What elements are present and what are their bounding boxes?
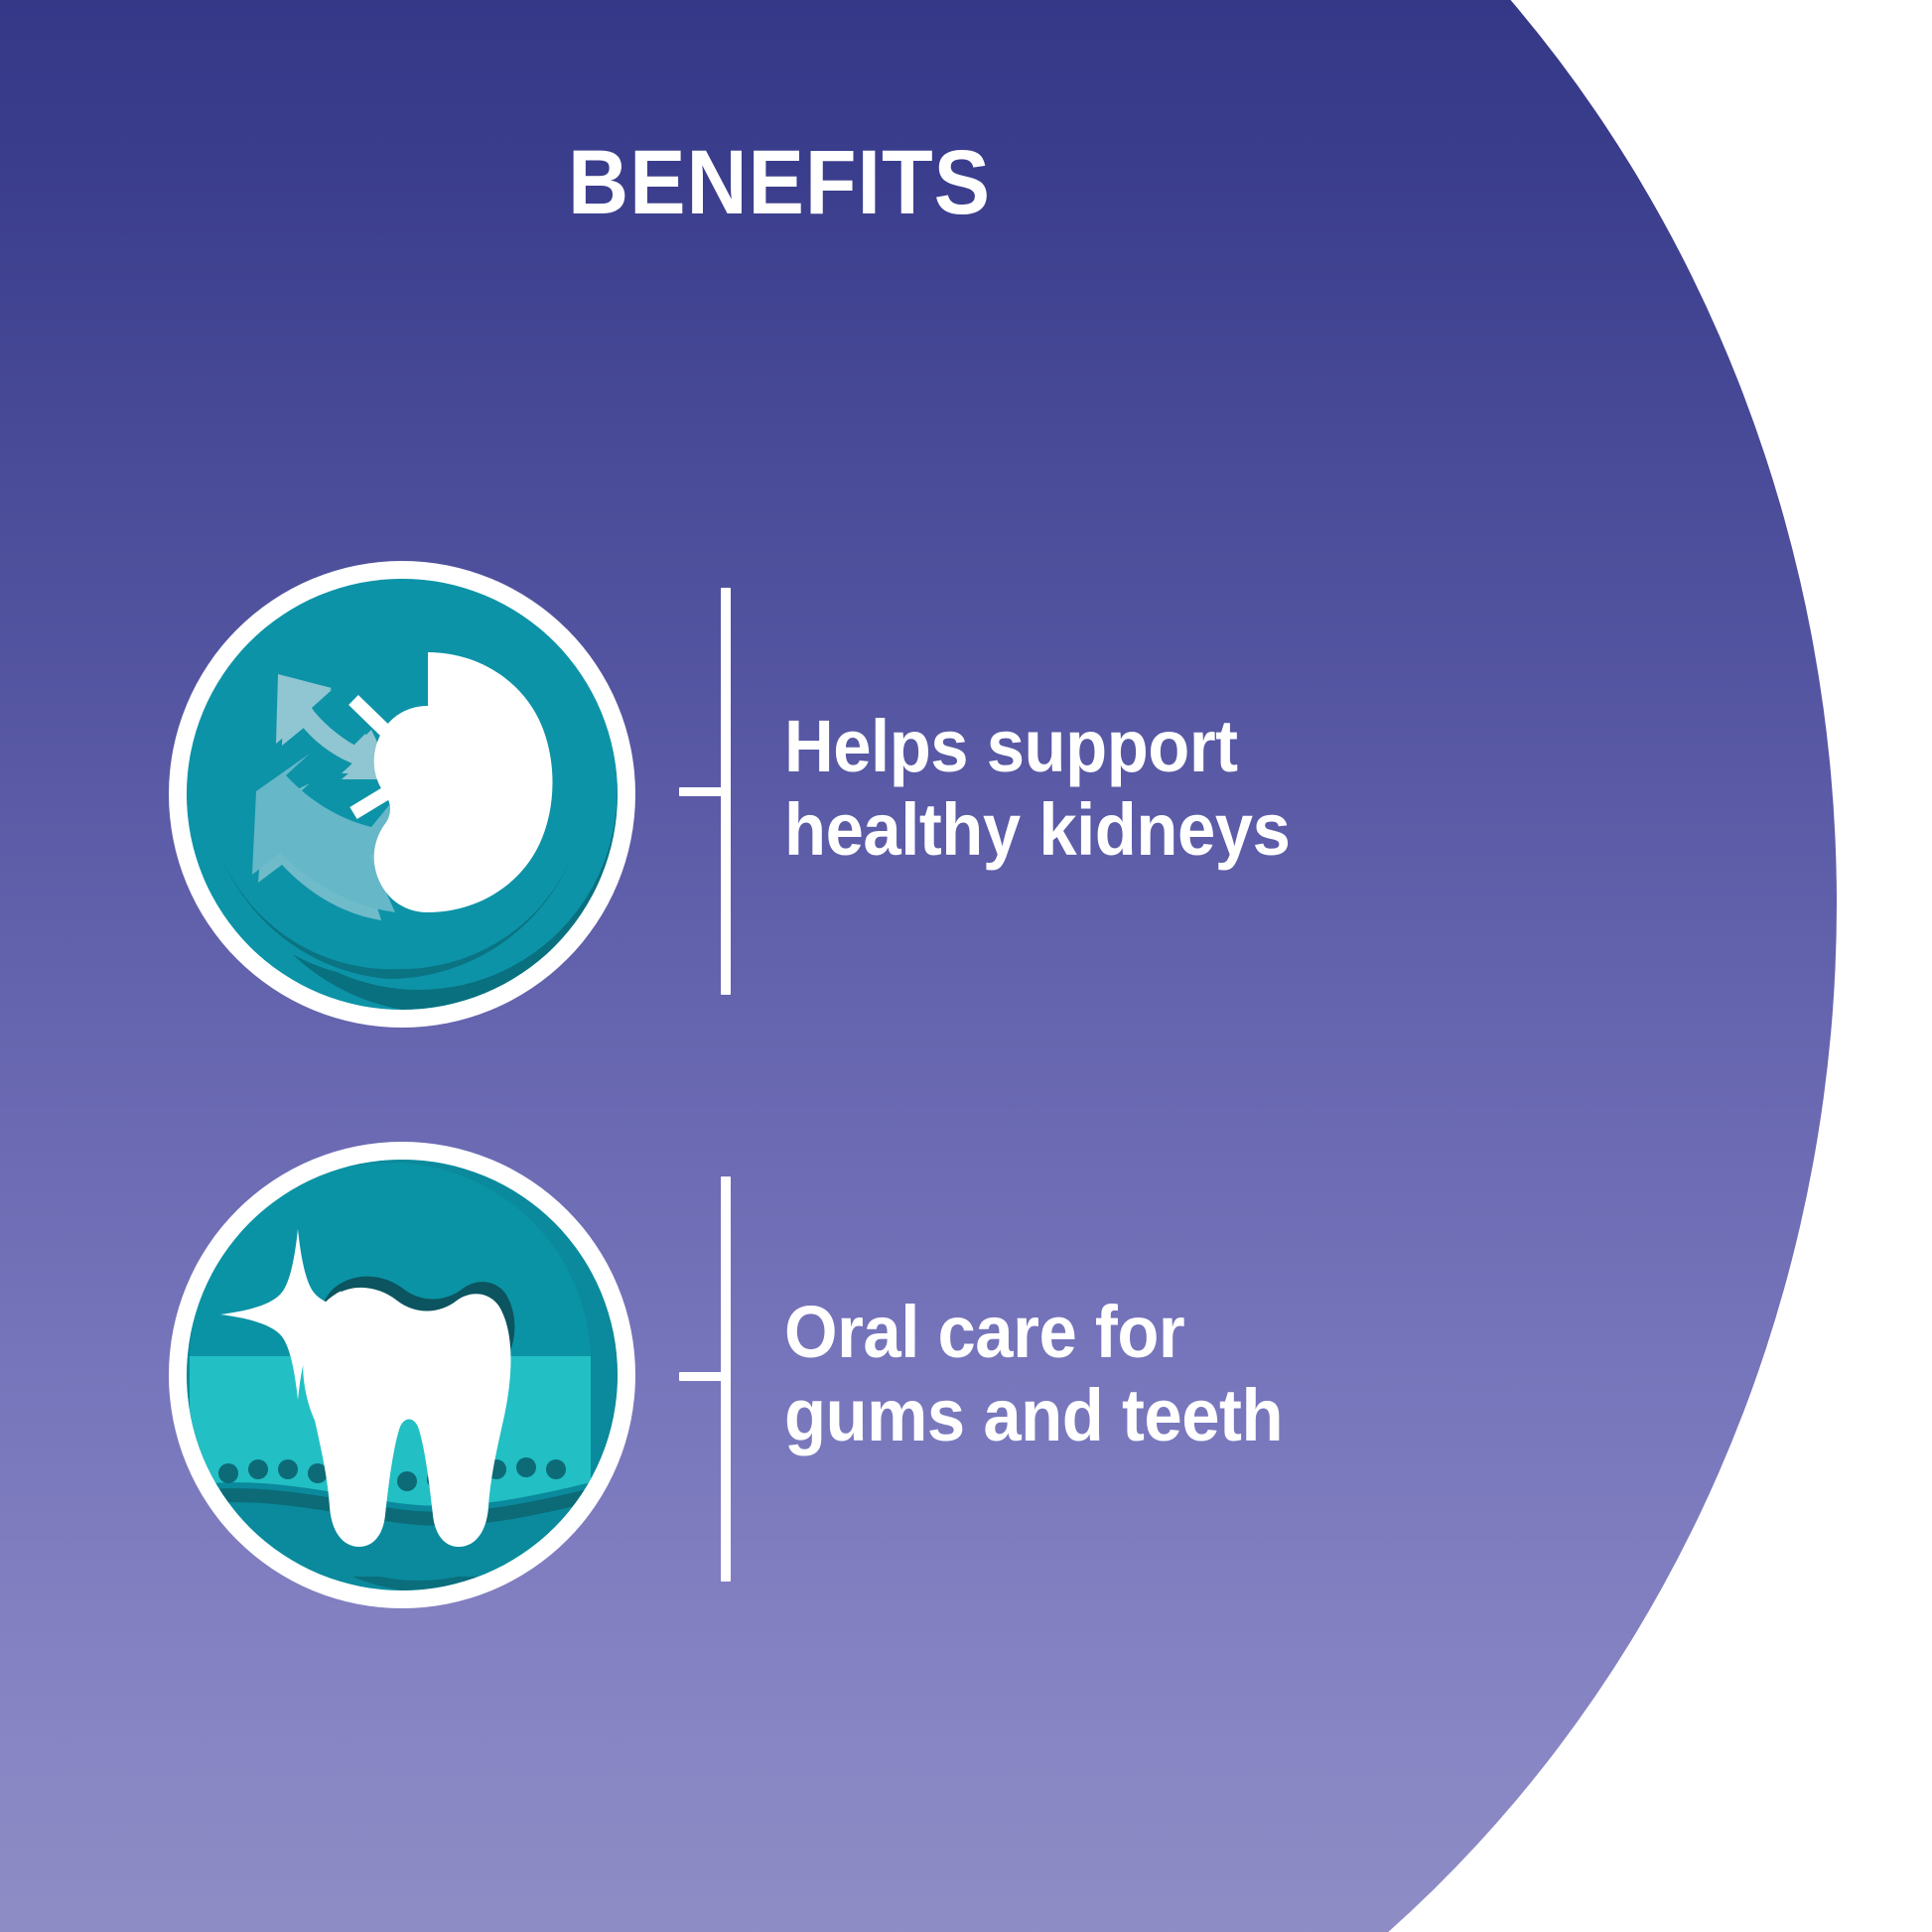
connector-tick-kidney xyxy=(679,787,725,796)
kidney-icon xyxy=(187,579,618,1010)
tooth-gums-icon-svg xyxy=(187,1160,618,1590)
benefit-label-kidney: Helps support healthy kidneys xyxy=(784,705,1290,871)
tooth-icon-badge xyxy=(169,1142,635,1608)
kidney-icon-svg xyxy=(187,579,618,1010)
kidney-icon-badge xyxy=(169,561,635,1028)
benefits-panel: BENEFITS xyxy=(0,0,1932,1932)
connector-tick-oral-care xyxy=(679,1372,725,1381)
page-title: BENEFITS xyxy=(63,137,1496,228)
benefit-label-oral-care: Oral care for gums and teeth xyxy=(784,1291,1283,1456)
tooth-gums-icon xyxy=(187,1160,618,1590)
